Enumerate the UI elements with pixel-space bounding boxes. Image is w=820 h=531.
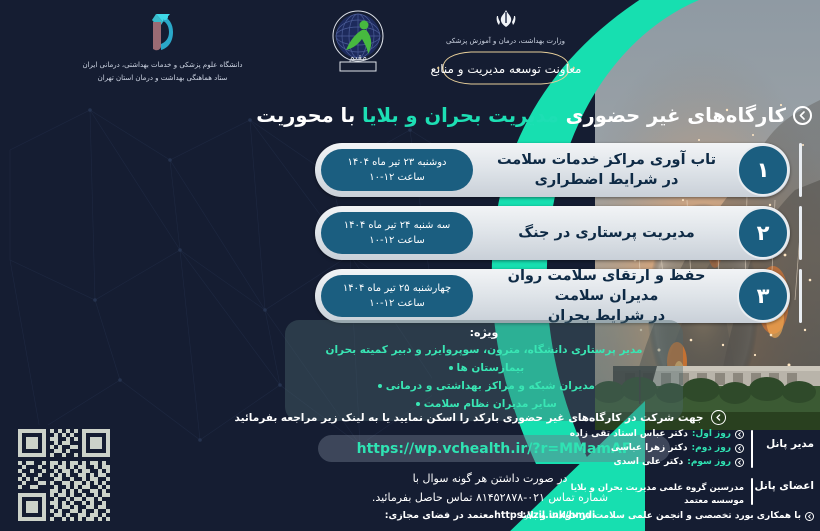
- globe-figure-icon: مقیم: [322, 6, 394, 78]
- panel-members-label: اعضای پانل: [760, 476, 814, 492]
- header-logos: دانشگاه علوم پزشکی و خدمات بهداشتی، درما…: [0, 0, 820, 98]
- ministry-of-health-logo: وزارت بهداشت، درمان و آموزش پزشکی معاونت…: [423, 8, 588, 87]
- panel-collaboration-text: با همکاری بورد تخصصی و انجمن علمی سلامت …: [520, 511, 801, 521]
- chevron-left-icon: [735, 458, 744, 467]
- panel-info-block: مدیر پانل روز اول: دکتر عباس استاد تقی ز…: [544, 428, 814, 521]
- session-date-badge: دوشنبه ۲۳ تیر ماه ۱۴۰۴ ساعت ۱۲-۱۰: [321, 149, 473, 191]
- chevron-left-icon: [805, 512, 814, 521]
- title-accent: مدیریت بحران و بلایا: [362, 104, 559, 127]
- panel-chair-day: روز سوم:: [687, 456, 731, 470]
- registration-qr-code[interactable]: [14, 425, 114, 525]
- iran-emblem-icon: [491, 8, 521, 30]
- audience-heading: ویژه:: [299, 326, 669, 339]
- panel-collaboration-note: با همکاری بورد تخصصی و انجمن علمی سلامت …: [544, 511, 814, 521]
- panel-chair-name: دکتر علی اسدی: [614, 456, 684, 470]
- panel-chair-label: مدیر پانل: [760, 428, 814, 450]
- panel-members-text: مدرسین گروه علمی مدیریت بحران و بلایا مو…: [544, 476, 744, 508]
- session-list: ۱ تاب آوری مراکز خدمات سلامت در شرایط اض…: [315, 143, 790, 323]
- panel-chair-row: روز دوم: دکتر زهرا عباسی: [544, 442, 744, 456]
- hmdi-globe-logo: مقیم: [300, 6, 415, 82]
- virtual-space-label: معتمد در فضای مجازی:: [385, 510, 494, 521]
- moh-logo-caption-line1: وزارت بهداشت، درمان و آموزش پزشکی: [423, 36, 588, 47]
- iums-logo-caption-line2: ستاد هماهنگی بهداشت و درمان استان تهران: [80, 73, 245, 84]
- session-title-line1: حفظ و ارتقای سلامت روان مدیران سلامت: [485, 266, 728, 306]
- poster-title: کارگاه‌های غیر حضوری مدیریت بحران و بلای…: [282, 104, 812, 127]
- tick-mark: [799, 269, 802, 323]
- session-date: چهارشنبه ۲۵ تیر ماه ۱۴۰۴: [343, 281, 451, 297]
- session-time: ساعت ۱۲-۱۰: [369, 296, 425, 312]
- poster-root: دانشگاه علوم پزشکی و خدمات بهداشتی، درما…: [0, 0, 820, 531]
- session-title: مدیریت پرستاری در جنگ: [485, 223, 728, 243]
- title-text: کارگاه‌های غیر حضوری مدیریت بحران و بلای…: [256, 104, 786, 127]
- session-title: تاب آوری مراکز خدمات سلامت در شرایط اضطر…: [485, 150, 728, 190]
- bullet-dot-icon: [378, 384, 382, 388]
- session-time: ساعت ۱۲-۱۰: [369, 233, 425, 249]
- session-title-line1: تاب آوری مراکز خدمات سلامت: [485, 150, 728, 170]
- session-time: ساعت ۱۲-۱۰: [369, 170, 425, 186]
- session-date: سه شنبه ۲۴ تیر ماه ۱۴۰۴: [344, 218, 451, 234]
- moh-calligraphy-frame-icon: معاونت توسعه مدیریت و منابع: [431, 49, 581, 87]
- chevron-left-icon: [793, 106, 812, 125]
- panel-chair-row: روز اول: دکتر عباس استاد تقی زاده: [544, 428, 744, 442]
- panel-members-values: مدرسین گروه علمی مدیریت بحران و بلایا مو…: [544, 476, 744, 508]
- chevron-left-icon: [735, 430, 744, 439]
- svg-text:معاونت توسعه مدیریت و منابع: معاونت توسعه مدیریت و منابع: [431, 62, 581, 77]
- session-row: ۳ حفظ و ارتقای سلامت روان مدیران سلامت د…: [315, 269, 790, 323]
- bullet-dot-icon: [449, 366, 453, 370]
- session-date-badge: سه شنبه ۲۴ تیر ماه ۱۴۰۴ ساعت ۱۲-۱۰: [321, 212, 473, 254]
- session-date-badge: چهارشنبه ۲۵ تیر ماه ۱۴۰۴ ساعت ۱۲-۱۰: [321, 275, 473, 317]
- panel-chair-day: روز دوم:: [692, 442, 732, 456]
- registration-instruction-text: جهت شرکت در کارگاه‌های غیر حضوری بارکد ر…: [235, 412, 704, 424]
- qr-code-image[interactable]: [14, 425, 114, 525]
- audience-item-label: مدیر پرستاری دانشگاه، مترون، سوپروایزر و…: [325, 344, 642, 374]
- audience-box: ویژه: مدیر پرستاری دانشگاه، مترون، سوپرو…: [285, 320, 683, 421]
- svg-text:مقیم: مقیم: [348, 53, 366, 63]
- registration-instruction: جهت شرکت در کارگاه‌های غیر حضوری بارکد ر…: [280, 410, 680, 425]
- panel-chair-values: روز اول: دکتر عباس استاد تقی زاده روز دو…: [544, 428, 744, 470]
- panel-divider: [751, 430, 753, 468]
- title-part-b: با محوریت: [256, 104, 355, 127]
- session-tick-marks: [798, 143, 802, 333]
- session-title: حفظ و ارتقای سلامت روان مدیران سلامت در …: [485, 266, 728, 326]
- panel-members-block: اعضای پانل مدرسین گروه علمی مدیریت بحران…: [544, 476, 814, 508]
- session-row: ۲ مدیریت پرستاری در جنگ سه شنبه ۲۴ تیر م…: [315, 206, 790, 260]
- bullet-dot-icon: [416, 402, 420, 406]
- panel-chair-block: مدیر پانل روز اول: دکتر عباس استاد تقی ز…: [544, 428, 814, 470]
- title-part-a: کارگاه‌های غیر حضوری: [566, 104, 786, 127]
- chevron-left-icon: [711, 410, 726, 425]
- tick-mark: [799, 206, 802, 260]
- panel-chair-name: دکتر عباس استاد تقی زاده: [570, 428, 688, 442]
- audience-item: مدیران شبکه و مراکز بهداشتی و درمانی: [299, 377, 669, 395]
- panel-divider: [751, 478, 753, 506]
- chevron-left-icon: [735, 444, 744, 453]
- audience-list: مدیر پرستاری دانشگاه، مترون، سوپروایزر و…: [299, 341, 669, 413]
- session-number-badge: ۲: [737, 207, 789, 259]
- session-number-badge: ۱: [737, 144, 789, 196]
- session-title-line2: در شرایط اضطراری: [485, 170, 728, 190]
- audience-item-label: مدیران شبکه و مراکز بهداشتی و درمانی: [386, 380, 595, 392]
- tick-mark: [799, 143, 802, 197]
- iums-logo-caption-line1: دانشگاه علوم پزشکی و خدمات بهداشتی، درما…: [80, 60, 245, 71]
- session-date: دوشنبه ۲۳ تیر ماه ۱۴۰۴: [348, 155, 447, 171]
- session-title-line1: مدیریت پرستاری در جنگ: [485, 223, 728, 243]
- iums-emblem-icon: [139, 6, 187, 54]
- panel-chair-row: روز سوم: دکتر علی اسدی: [544, 456, 744, 470]
- session-number-badge: ۳: [737, 270, 789, 322]
- iums-logo: دانشگاه علوم پزشکی و خدمات بهداشتی، درما…: [80, 6, 245, 83]
- audience-item: مدیر پرستاری دانشگاه، مترون، سوپروایزر و…: [299, 341, 669, 377]
- panel-chair-name: دکتر زهرا عباسی: [611, 442, 688, 456]
- session-row: ۱ تاب آوری مراکز خدمات سلامت در شرایط اض…: [315, 143, 790, 197]
- panel-chair-day: روز اول:: [692, 428, 731, 442]
- audience-item-label: سایر مدیران نظام سلامت: [424, 398, 557, 410]
